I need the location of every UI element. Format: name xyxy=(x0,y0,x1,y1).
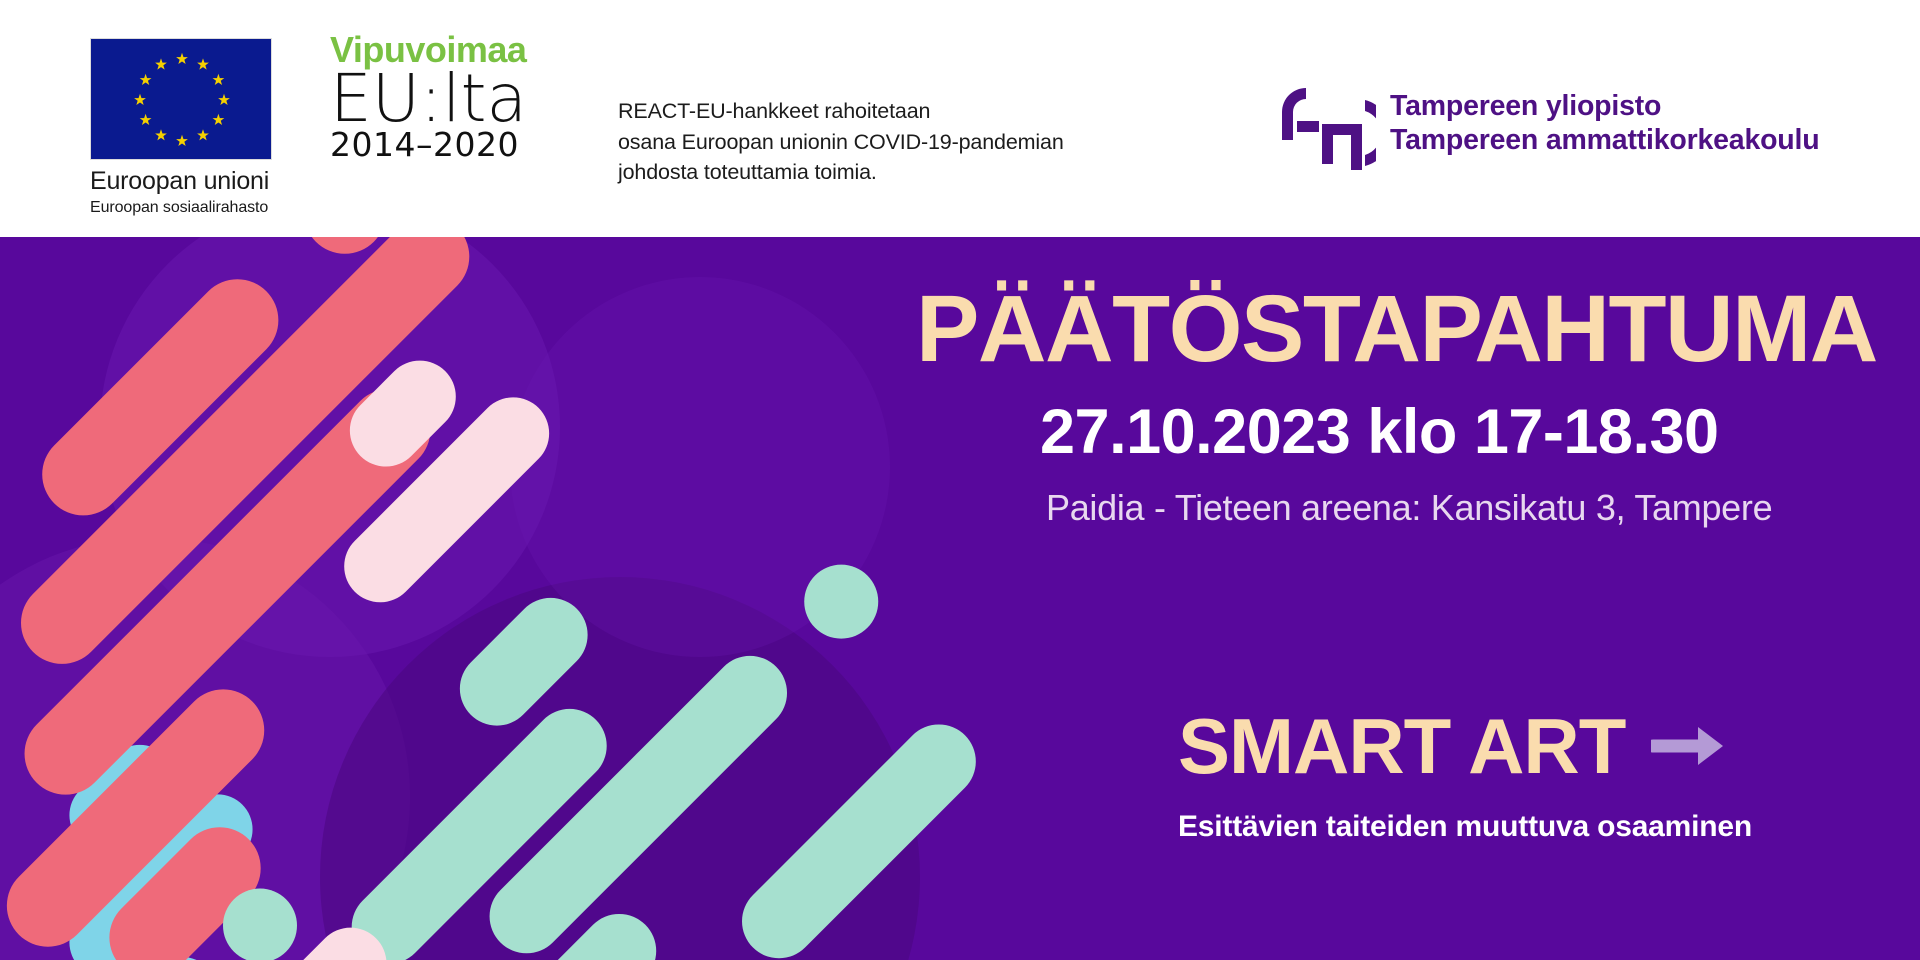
project-tagline: Esittävien taiteiden muuttuva osaaminen xyxy=(1178,812,1752,842)
tampere-logo: Tampereen yliopisto Tampereen ammattikor… xyxy=(1272,78,1819,170)
funding-note-line3: johdosta toteuttamia toimia. xyxy=(618,157,1064,188)
eu-flag-icon xyxy=(90,38,272,160)
event-banner-page: Euroopan unioni Euroopan sosiaalirahasto… xyxy=(0,0,1920,960)
tampere-logo-text: Tampereen yliopisto Tampereen ammattikor… xyxy=(1390,90,1819,158)
project-name-row: SMART ART xyxy=(1178,707,1729,785)
sponsor-header: Euroopan unioni Euroopan sosiaalirahasto… xyxy=(0,0,1920,237)
event-date-time: 27.10.2023 klo 17-18.30 xyxy=(1040,401,1850,464)
tampere-brand-mark-icon xyxy=(1272,78,1376,170)
eu-stars-icon xyxy=(91,39,273,161)
event-title: PÄÄTÖSTAPAHTUMA xyxy=(916,282,1846,377)
arrow-right-icon xyxy=(1651,720,1729,772)
eu-logo: Euroopan unioni Euroopan sosiaalirahasto xyxy=(90,38,275,217)
tampere-university-label: Tampereen yliopisto xyxy=(1390,90,1819,124)
project-name: SMART ART xyxy=(1178,707,1625,785)
vipuvoimaa-line2: EU:lta xyxy=(330,67,560,130)
eu-logo-caption-secondary: Euroopan sosiaalirahasto xyxy=(90,199,275,217)
funding-note-line2: osana Euroopan unionin COVID-19-pandemia… xyxy=(618,127,1064,158)
funding-note: REACT-EU-hankkeet rahoitetaan osana Euro… xyxy=(618,96,1064,188)
event-venue: Paidia - Tieteen areena: Kansikatu 3, Ta… xyxy=(1046,490,1846,526)
event-banner: PÄÄTÖSTAPAHTUMA 27.10.2023 klo 17-18.30 … xyxy=(0,237,1920,960)
vipuvoimaa-logo: Vipuvoimaa EU:lta 2014–2020 xyxy=(330,32,560,161)
eu-logo-caption-primary: Euroopan unioni xyxy=(90,167,275,196)
funding-note-line1: REACT-EU-hankkeet rahoitetaan xyxy=(618,96,1064,127)
tampere-uas-label: Tampereen ammattikorkeakoulu xyxy=(1390,124,1819,158)
